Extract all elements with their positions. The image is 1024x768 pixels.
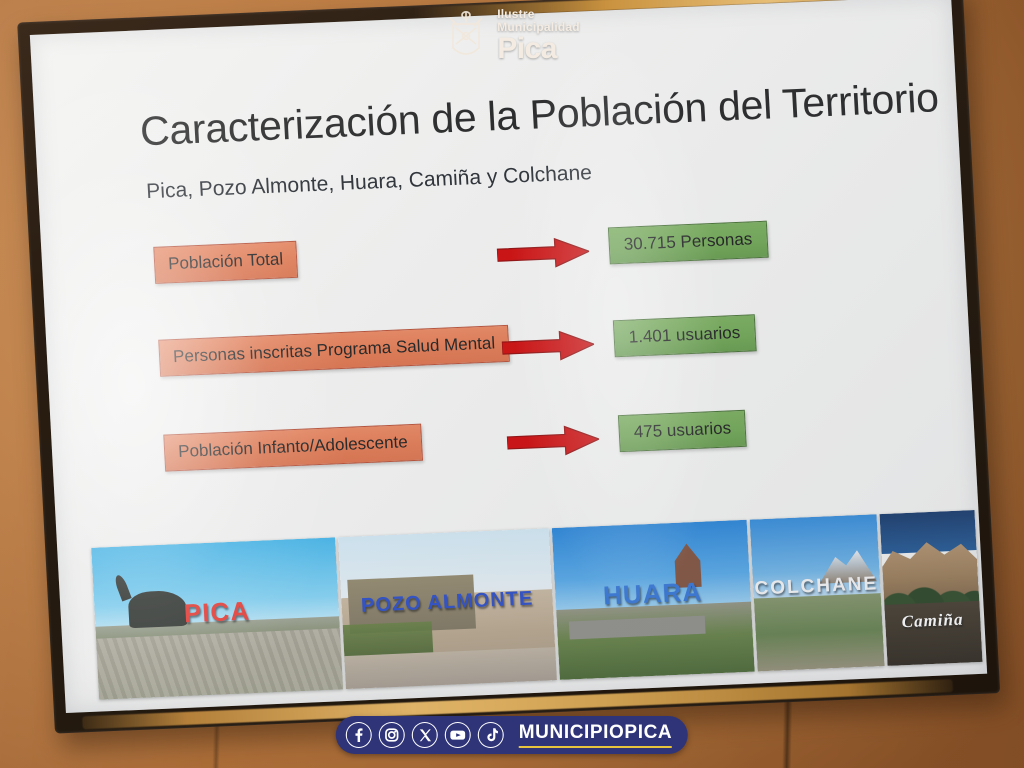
photo-pozo-almonte: POZO ALMONTE [338, 528, 556, 689]
tiktok-icon[interactable] [478, 722, 504, 748]
x-twitter-icon[interactable] [412, 722, 438, 748]
instagram-icon[interactable] [379, 722, 405, 748]
photo-scene: Caracterización de la Población del Terr… [0, 0, 1024, 768]
photo-camina: Camiña [879, 510, 982, 666]
stat-label: Población Total [153, 241, 298, 284]
youtube-icon[interactable] [445, 722, 471, 748]
right-arrow-icon [501, 329, 595, 363]
stat-row: Población Total 30.715 Personas [41, 212, 965, 297]
social-media-bar: MUNICIPIOPICA [336, 716, 688, 754]
social-handle[interactable]: MUNICIPIOPICA [519, 722, 672, 748]
ground [556, 602, 754, 680]
ground [753, 593, 884, 671]
stat-value: 1.401 usuarios [613, 314, 756, 357]
stat-row: Población Infanto/Adolescente 475 usuari… [51, 400, 975, 485]
slide-subtitle: Pica, Pozo Almonte, Huara, Camiña y Colc… [146, 161, 593, 204]
pavement [96, 628, 343, 699]
city-sign-label: PICA [183, 596, 251, 630]
photo-pica: PICA [91, 537, 343, 699]
photo-colchane: COLCHANE [749, 514, 884, 671]
facebook-icon[interactable] [346, 722, 372, 748]
page-title: Caracterización de la Población del Terr… [139, 74, 940, 155]
city-sign-label: HUARA [602, 576, 702, 611]
right-arrow-icon [496, 236, 590, 270]
city-sign-label: Camiña [901, 610, 964, 633]
tv-bezel: Caracterización de la Población del Terr… [17, 0, 1000, 734]
stat-label: Población Infanto/Adolescente [163, 424, 422, 472]
stat-value: 30.715 Personas [608, 221, 768, 265]
stat-label: Personas inscritas Programa Salud Mental [158, 325, 510, 377]
stat-value: 475 usuarios [618, 410, 747, 452]
presentation-slide: Caracterización de la Población del Terr… [30, 0, 987, 713]
photo-huara: HUARA [552, 520, 755, 680]
wall-mounted-tv: Caracterización de la Población del Terr… [17, 0, 1000, 734]
photo-strip: PICA POZO ALMONTE [91, 510, 982, 700]
right-arrow-icon [506, 424, 600, 458]
stat-row: Personas inscritas Programa Salud Mental… [46, 305, 970, 390]
tv-screen: Caracterización de la Población del Terr… [30, 0, 987, 713]
